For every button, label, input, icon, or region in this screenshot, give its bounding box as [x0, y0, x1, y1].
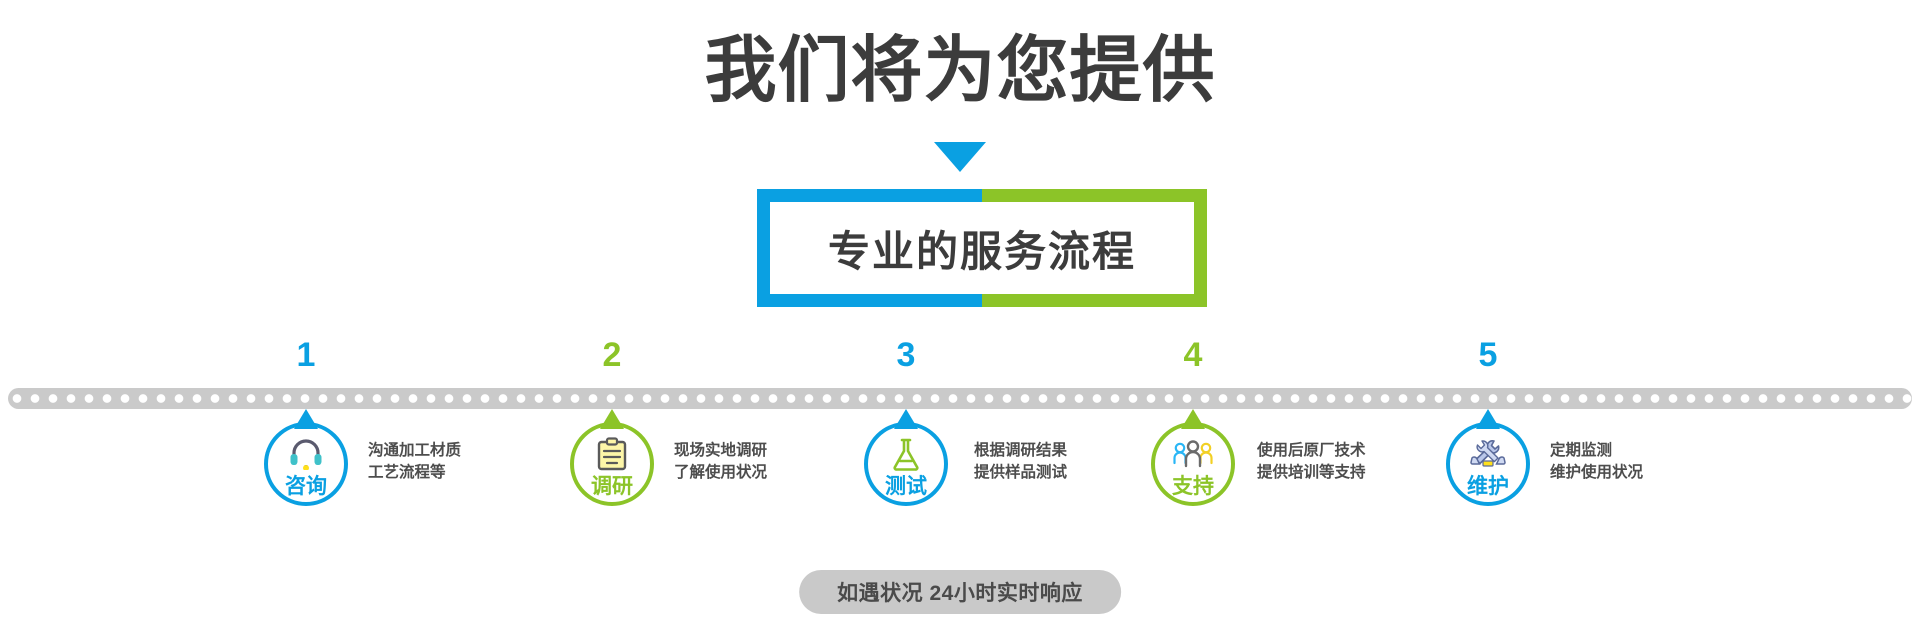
- service-process-infographic: 我们将为您提供 专业的服务流程 1: [0, 0, 1920, 630]
- step-circle[interactable]: 调研: [570, 422, 654, 506]
- step-number: 5: [1446, 338, 1530, 372]
- desc-line-1: 沟通加工材质: [368, 440, 461, 462]
- desc-line-2: 工艺流程等: [368, 462, 461, 484]
- desc-line-2: 维护使用状况: [1550, 462, 1643, 484]
- pointer-icon: [894, 409, 918, 429]
- step-label: 支持: [1155, 476, 1231, 497]
- desc-line-1: 定期监测: [1550, 440, 1643, 462]
- people-group-icon: [1155, 434, 1231, 474]
- step-description: 使用后原厂技术 提供培训等支持: [1257, 440, 1366, 484]
- pointer-icon: [294, 409, 318, 429]
- step-circle[interactable]: 支持: [1151, 422, 1235, 506]
- step-label: 调研: [574, 476, 650, 497]
- desc-line-1: 现场实地调研: [674, 440, 767, 462]
- step-circle[interactable]: 测试: [864, 422, 948, 506]
- flask-icon: [868, 434, 944, 474]
- step-description: 定期监测 维护使用状况: [1550, 440, 1643, 484]
- response-badge: 如遇状况 24小时实时响应: [799, 570, 1121, 614]
- pointer-icon: [1476, 409, 1500, 429]
- step-description: 根据调研结果 提供样品测试: [974, 440, 1067, 484]
- step-number: 2: [570, 338, 654, 372]
- step-label: 咨询: [268, 476, 344, 497]
- step-circle[interactable]: 维护: [1446, 422, 1530, 506]
- desc-line-2: 提供样品测试: [974, 462, 1067, 484]
- step-number: 1: [264, 338, 348, 372]
- desc-line-1: 使用后原厂技术: [1257, 440, 1366, 462]
- headset-icon: [268, 434, 344, 474]
- step-number: 3: [864, 338, 948, 372]
- pointer-icon: [1181, 409, 1205, 429]
- step-label: 测试: [868, 476, 944, 497]
- step-number: 4: [1151, 338, 1235, 372]
- pointer-icon: [600, 409, 624, 429]
- step-label: 维护: [1450, 476, 1526, 497]
- desc-line-1: 根据调研结果: [974, 440, 1067, 462]
- steps-container: 1 咨询 沟通加工材质 工艺流程等: [0, 0, 1920, 630]
- wrench-hands-icon: [1450, 434, 1526, 474]
- step-description: 沟通加工材质 工艺流程等: [368, 440, 461, 484]
- step-circle[interactable]: 咨询: [264, 422, 348, 506]
- desc-line-2: 了解使用状况: [674, 462, 767, 484]
- desc-line-2: 提供培训等支持: [1257, 462, 1366, 484]
- step-description: 现场实地调研 了解使用状况: [674, 440, 767, 484]
- clipboard-icon: [574, 434, 650, 474]
